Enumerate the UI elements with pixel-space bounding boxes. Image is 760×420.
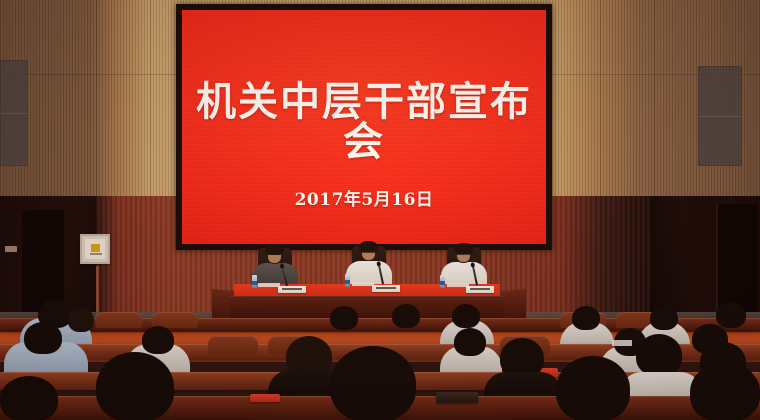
- audience-head: [636, 334, 682, 376]
- sign-inner: [85, 239, 105, 259]
- audience-head: [716, 302, 746, 328]
- papers-center: [352, 282, 374, 286]
- nameplate-left: [278, 286, 306, 293]
- red-phone-front[interactable]: [250, 394, 280, 402]
- seat-back: [208, 336, 258, 354]
- audience-head-foreground: [330, 346, 416, 420]
- audience-head: [454, 328, 486, 356]
- water-bottle-right: [440, 275, 445, 288]
- acoustic-panel-right: [698, 66, 742, 166]
- audience-head: [24, 322, 62, 354]
- acoustic-panel-left: [0, 60, 28, 166]
- audience-head: [330, 306, 358, 330]
- seat-back: [96, 312, 142, 328]
- audience-head-foreground: [690, 362, 760, 420]
- sign-pictogram-icon: [91, 244, 100, 252]
- nameplate-center: [372, 285, 400, 292]
- notice-sign: [80, 234, 110, 264]
- person-head: [266, 245, 283, 264]
- audience-head: [68, 308, 94, 332]
- wall-seam: [600, 0, 601, 196]
- banner-date: 2017年5月16日: [182, 185, 546, 210]
- audience-head-foreground: [556, 356, 630, 420]
- papers-left: [258, 283, 280, 287]
- audience-head-foreground: [96, 352, 174, 420]
- banner-title: 机关中层干部宣布会: [182, 82, 546, 162]
- audience-head: [650, 306, 678, 330]
- wall-seam: [150, 0, 151, 196]
- sign-text-line: [90, 253, 102, 255]
- led-screen: 机关中层干部宣布会 2017年5月16日: [182, 10, 546, 244]
- book-on-desk: [436, 392, 478, 403]
- water-bottle-center: [345, 274, 350, 287]
- conference-hall-photo: 机关中层干部宣布会 2017年5月16日: [0, 0, 760, 420]
- audience-head: [142, 326, 174, 354]
- audience-head-foreground: [0, 376, 58, 420]
- notepad: [612, 340, 632, 346]
- wall-seam: [654, 0, 655, 196]
- audience-head: [452, 304, 480, 328]
- wall-seam: [96, 0, 97, 196]
- person-head: [360, 242, 377, 261]
- nameplate-right: [466, 286, 494, 293]
- audience-head: [572, 306, 600, 330]
- person-head: [455, 244, 472, 263]
- audience-head: [392, 304, 420, 328]
- water-bottle-left: [252, 275, 257, 288]
- light-switch-plate[interactable]: [5, 246, 17, 252]
